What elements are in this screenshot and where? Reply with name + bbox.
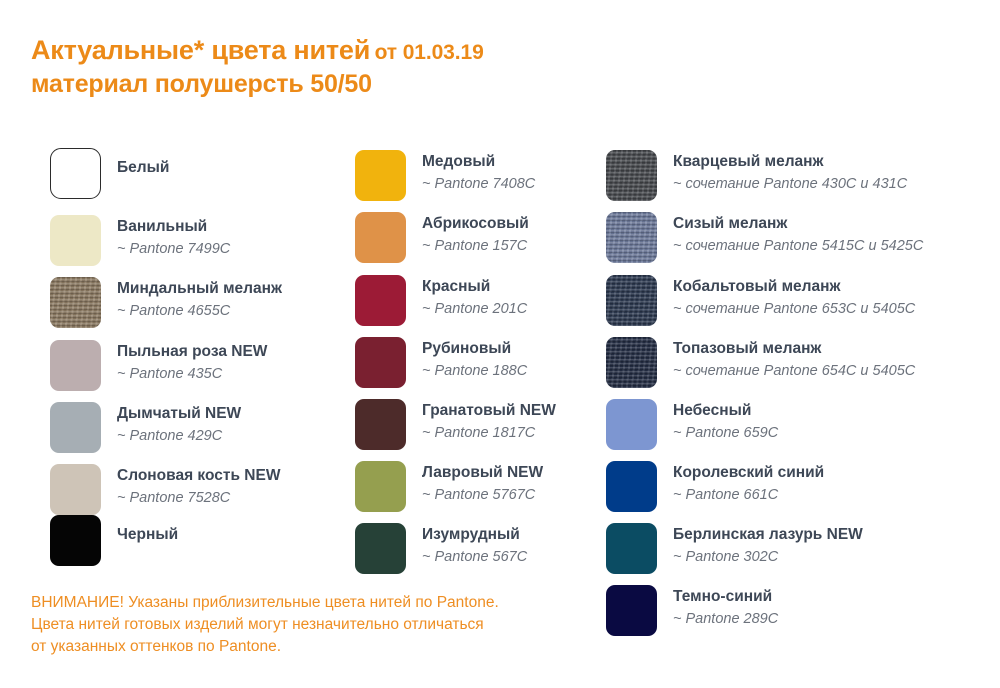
swatch-pantone-code: ~ Pantone 7408C xyxy=(422,176,535,193)
swatch-row[interactable]: Кобальтовый меланж~ сочетание Pantone 65… xyxy=(606,275,915,337)
swatch-row[interactable]: Рубиновый~ Pantone 188C xyxy=(355,337,527,399)
swatch-name: Топазовый меланж xyxy=(673,340,915,358)
color-chip[interactable] xyxy=(355,275,406,326)
swatch-pantone-code: ~ Pantone 5767C xyxy=(422,487,543,504)
color-swatch-grid: БелыйВанильный~ Pantone 7499CМиндальный … xyxy=(0,0,1000,688)
swatch-labels: Черный xyxy=(117,515,178,544)
swatch-labels: Медовый~ Pantone 7408C xyxy=(422,150,535,194)
swatch-pantone-code: ~ Pantone 1817C xyxy=(422,425,556,442)
swatch-row[interactable]: Абрикосовый~ Pantone 157C xyxy=(355,212,529,274)
swatch-labels: Абрикосовый~ Pantone 157C xyxy=(422,212,529,256)
swatch-name: Кварцевый меланж xyxy=(673,153,907,171)
swatch-labels: Дымчатый NEW~ Pantone 429C xyxy=(117,402,241,446)
swatch-name: Черный xyxy=(117,518,178,544)
color-chip[interactable] xyxy=(606,337,657,388)
swatch-labels: Топазовый меланж~ сочетание Pantone 654C… xyxy=(673,337,915,381)
swatch-row[interactable]: Пыльная роза NEW~ Pantone 435C xyxy=(50,340,267,402)
swatch-row[interactable]: Лавровый NEW~ Pantone 5767C xyxy=(355,461,543,523)
color-chip[interactable] xyxy=(606,399,657,450)
swatch-row[interactable]: Дымчатый NEW~ Pantone 429C xyxy=(50,402,241,464)
color-chip[interactable] xyxy=(606,585,657,636)
swatch-row[interactable]: Кварцевый меланж~ сочетание Pantone 430C… xyxy=(606,150,907,212)
disclaimer-line-2: Цвета нитей готовых изделий могут незнач… xyxy=(31,614,611,636)
swatch-row[interactable]: Черный xyxy=(50,515,178,577)
swatch-labels: Красный~ Pantone 201C xyxy=(422,275,527,319)
swatch-row[interactable]: Миндальный меланж~ Pantone 4655C xyxy=(50,277,282,339)
swatch-name: Пыльная роза NEW xyxy=(117,343,267,361)
swatch-name: Изумрудный xyxy=(422,526,527,544)
swatch-labels: Пыльная роза NEW~ Pantone 435C xyxy=(117,340,267,384)
swatch-pantone-code: ~ Pantone 201C xyxy=(422,301,527,318)
swatch-labels: Королевский синий~ Pantone 661C xyxy=(673,461,824,505)
color-chip[interactable] xyxy=(50,215,101,266)
swatch-name: Белый xyxy=(117,151,169,177)
swatch-name: Медовый xyxy=(422,153,535,171)
swatch-pantone-code: ~ сочетание Pantone 654C и 5405C xyxy=(673,363,915,380)
disclaimer-line-3: от указанных оттенков по Pantone. xyxy=(31,636,611,658)
swatch-row[interactable]: Берлинская лазурь NEW~ Pantone 302C xyxy=(606,523,863,585)
swatch-pantone-code: ~ Pantone 435C xyxy=(117,366,267,383)
color-chip[interactable] xyxy=(50,340,101,391)
swatch-pantone-code: ~ Pantone 661C xyxy=(673,487,824,504)
swatch-pantone-code: ~ Pantone 429C xyxy=(117,428,241,445)
color-chip[interactable] xyxy=(355,150,406,201)
swatch-labels: Ванильный~ Pantone 7499C xyxy=(117,215,230,259)
color-chip[interactable] xyxy=(355,337,406,388)
color-chip[interactable] xyxy=(50,402,101,453)
swatch-labels: Небесный~ Pantone 659C xyxy=(673,399,778,443)
color-chip[interactable] xyxy=(355,523,406,574)
swatch-labels: Белый xyxy=(117,148,169,177)
swatch-labels: Лавровый NEW~ Pantone 5767C xyxy=(422,461,543,505)
swatch-name: Сизый меланж xyxy=(673,215,923,233)
swatch-row[interactable]: Ванильный~ Pantone 7499C xyxy=(50,215,230,277)
swatch-pantone-code: ~ Pantone 4655C xyxy=(117,303,282,320)
swatch-labels: Миндальный меланж~ Pantone 4655C xyxy=(117,277,282,321)
color-chip[interactable] xyxy=(606,523,657,574)
color-chip[interactable] xyxy=(355,212,406,263)
swatch-pantone-code: ~ Pantone 7499C xyxy=(117,241,230,258)
swatch-pantone-code: ~ сочетание Pantone 5415C и 5425C xyxy=(673,238,923,255)
color-chip[interactable] xyxy=(355,461,406,512)
swatch-row[interactable]: Медовый~ Pantone 7408C xyxy=(355,150,535,212)
swatch-row[interactable]: Королевский синий~ Pantone 661C xyxy=(606,461,824,523)
swatch-row[interactable]: Гранатовый NEW~ Pantone 1817C xyxy=(355,399,556,461)
color-chip[interactable] xyxy=(355,399,406,450)
swatch-pantone-code: ~ Pantone 188C xyxy=(422,363,527,380)
swatch-labels: Темно-синий~ Pantone 289C xyxy=(673,585,778,629)
swatch-name: Рубиновый xyxy=(422,340,527,358)
color-chip[interactable] xyxy=(50,464,101,515)
swatch-row[interactable]: Сизый меланж~ сочетание Pantone 5415C и … xyxy=(606,212,923,274)
swatch-pantone-code: ~ Pantone 157C xyxy=(422,238,529,255)
swatch-labels: Изумрудный~ Pantone 567C xyxy=(422,523,527,567)
swatch-name: Лавровый NEW xyxy=(422,464,543,482)
color-chip[interactable] xyxy=(50,277,101,328)
swatch-name: Миндальный меланж xyxy=(117,280,282,298)
swatch-name: Гранатовый NEW xyxy=(422,402,556,420)
swatch-pantone-code: ~ Pantone 302C xyxy=(673,549,863,566)
swatch-row[interactable]: Небесный~ Pantone 659C xyxy=(606,399,778,461)
swatch-row[interactable]: Темно-синий~ Pantone 289C xyxy=(606,585,778,647)
swatch-name: Красный xyxy=(422,278,527,296)
color-chip[interactable] xyxy=(50,148,101,199)
swatch-pantone-code: ~ Pantone 289C xyxy=(673,611,778,628)
color-chip[interactable] xyxy=(606,275,657,326)
swatch-labels: Кварцевый меланж~ сочетание Pantone 430C… xyxy=(673,150,907,194)
swatch-row[interactable]: Топазовый меланж~ сочетание Pantone 654C… xyxy=(606,337,915,399)
swatch-labels: Кобальтовый меланж~ сочетание Pantone 65… xyxy=(673,275,915,319)
color-chip[interactable] xyxy=(606,150,657,201)
swatch-labels: Слоновая кость NEW~ Pantone 7528C xyxy=(117,464,280,508)
swatch-name: Кобальтовый меланж xyxy=(673,278,915,296)
swatch-labels: Берлинская лазурь NEW~ Pantone 302C xyxy=(673,523,863,567)
swatch-name: Дымчатый NEW xyxy=(117,405,241,423)
disclaimer-note: ВНИМАНИЕ! Указаны приблизительные цвета … xyxy=(31,592,611,658)
swatch-row[interactable]: Изумрудный~ Pantone 567C xyxy=(355,523,527,585)
swatch-labels: Гранатовый NEW~ Pantone 1817C xyxy=(422,399,556,443)
disclaimer-line-1: ВНИМАНИЕ! Указаны приблизительные цвета … xyxy=(31,592,611,614)
swatch-pantone-code: ~ Pantone 659C xyxy=(673,425,778,442)
swatch-name: Темно-синий xyxy=(673,588,778,606)
swatch-name: Абрикосовый xyxy=(422,215,529,233)
swatch-row[interactable]: Красный~ Pantone 201C xyxy=(355,275,527,337)
color-chip[interactable] xyxy=(50,515,101,566)
swatch-labels: Сизый меланж~ сочетание Pantone 5415C и … xyxy=(673,212,923,256)
swatch-name: Королевский синий xyxy=(673,464,824,482)
swatch-labels: Рубиновый~ Pantone 188C xyxy=(422,337,527,381)
swatch-name: Берлинская лазурь NEW xyxy=(673,526,863,544)
color-chip[interactable] xyxy=(606,461,657,512)
swatch-name: Небесный xyxy=(673,402,778,420)
swatch-pantone-code: ~ сочетание Pantone 430C и 431C xyxy=(673,176,907,193)
color-chip[interactable] xyxy=(606,212,657,263)
swatch-row[interactable]: Белый xyxy=(50,148,169,210)
swatch-name: Ванильный xyxy=(117,218,230,236)
swatch-pantone-code: ~ Pantone 567C xyxy=(422,549,527,566)
swatch-pantone-code: ~ сочетание Pantone 653C и 5405C xyxy=(673,301,915,318)
swatch-name: Слоновая кость NEW xyxy=(117,467,280,485)
swatch-pantone-code: ~ Pantone 7528C xyxy=(117,490,280,507)
